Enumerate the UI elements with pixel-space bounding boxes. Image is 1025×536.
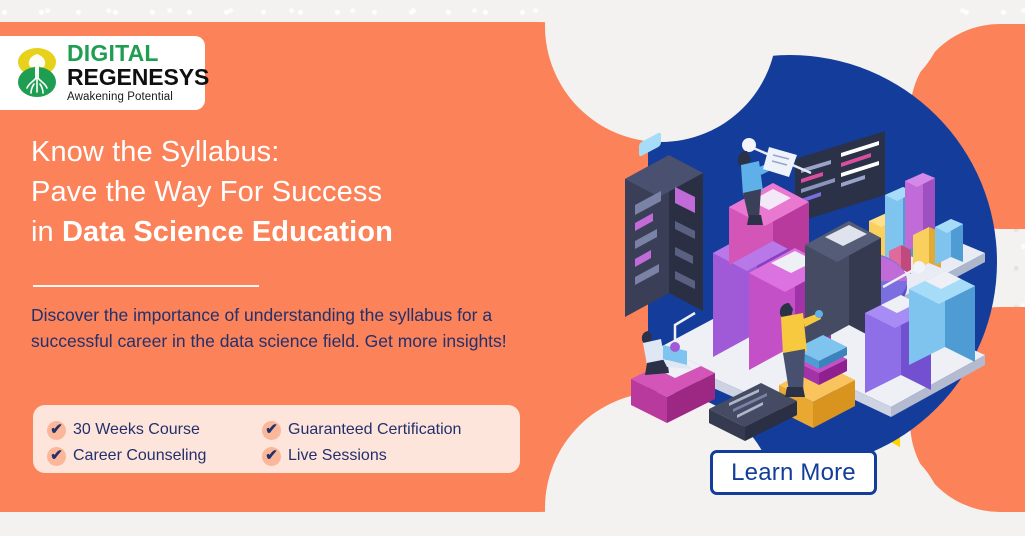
isometric-data-science-illustration [583, 55, 997, 469]
feature-label: Guaranteed Certification [288, 421, 461, 439]
check-icon: ✔ [262, 447, 281, 466]
check-icon: ✔ [47, 421, 66, 440]
headline-line-3-prefix: in [31, 216, 62, 248]
headline-line-2: Pave the Way For Success [31, 172, 551, 212]
brand-logo[interactable]: DIGITAL REGENESYS Awakening Potential [0, 36, 205, 110]
logo-tagline-text: Awakening Potential [67, 92, 209, 104]
logo-primary-text: DIGITAL [67, 42, 209, 65]
tree-roots-emblem-icon [14, 48, 60, 98]
check-icon: ✔ [47, 447, 66, 466]
feature-label: 30 Weeks Course [73, 421, 200, 439]
page-title: Know the Syllabus: Pave the Way For Succ… [31, 132, 551, 252]
feature-list: ✔ 30 Weeks Course ✔ Guaranteed Certifica… [33, 405, 520, 473]
list-item: ✔ 30 Weeks Course [47, 417, 262, 443]
description-text: Discover the importance of understanding… [31, 302, 511, 354]
headline-line-3-emphasis: Data Science Education [62, 216, 393, 248]
logo-wordmark: DIGITAL REGENESYS Awakening Potential [67, 42, 209, 104]
logo-secondary-text: REGENESYS [67, 66, 209, 89]
list-item: ✔ Live Sessions [262, 443, 520, 469]
check-icon: ✔ [262, 421, 281, 440]
list-item: ✔ Guaranteed Certification [262, 417, 520, 443]
feature-label: Career Counseling [73, 447, 206, 465]
headline-line-3: in Data Science Education [31, 212, 551, 252]
learn-more-button[interactable]: Learn More [710, 450, 877, 495]
divider [33, 285, 259, 287]
feature-label: Live Sessions [288, 447, 387, 465]
list-item: ✔ Career Counseling [47, 443, 262, 469]
banner-root: DIGITAL REGENESYS Awakening Potential Kn… [0, 0, 1025, 536]
headline-line-1: Know the Syllabus: [31, 132, 551, 172]
server-rack-icon [625, 132, 703, 317]
